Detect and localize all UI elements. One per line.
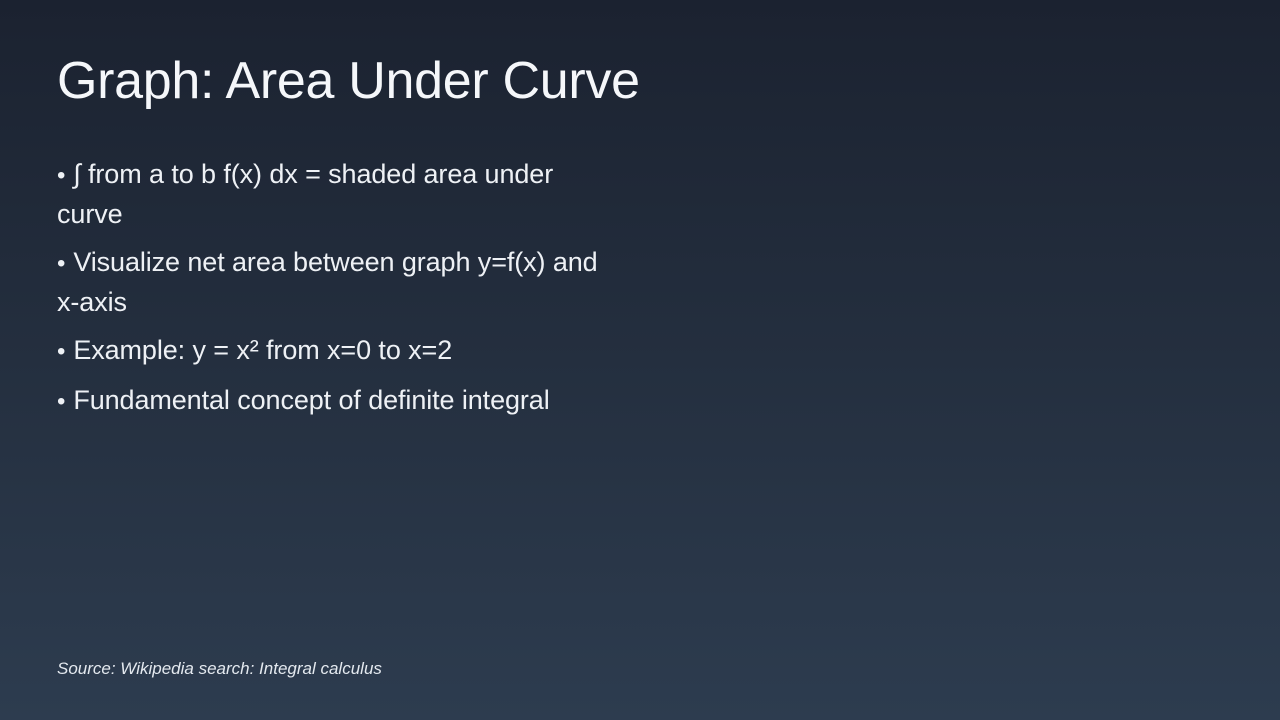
presentation-slide: Graph: Area Under Curve •∫ from a to b f… (0, 0, 1280, 720)
bullet-item-text: Example: y = x² from x=0 to x=2 (73, 335, 452, 365)
bullet-item: •Example: y = x² from x=0 to x=2 (57, 331, 617, 371)
bullet-point-icon: • (57, 250, 65, 277)
bullet-point-icon: • (57, 388, 65, 415)
bullet-item: •Fundamental concept of definite integra… (57, 381, 617, 421)
bullet-item: •∫ from a to b f(x) dx = shaded area und… (57, 155, 617, 233)
bullet-point-icon: • (57, 338, 65, 365)
bullet-item: •Visualize net area between graph y=f(x)… (57, 243, 617, 321)
bullet-item-text: Fundamental concept of definite integral (73, 385, 549, 415)
bullet-item-text: ∫ from a to b f(x) dx = shaded area unde… (57, 159, 553, 229)
source-attribution: Source: Wikipedia search: Integral calcu… (57, 657, 382, 681)
bullet-point-icon: • (57, 162, 65, 189)
slide-title: Graph: Area Under Curve (57, 51, 1197, 111)
bullet-list: •∫ from a to b f(x) dx = shaded area und… (57, 155, 617, 421)
bullet-item-text: Visualize net area between graph y=f(x) … (57, 247, 598, 317)
